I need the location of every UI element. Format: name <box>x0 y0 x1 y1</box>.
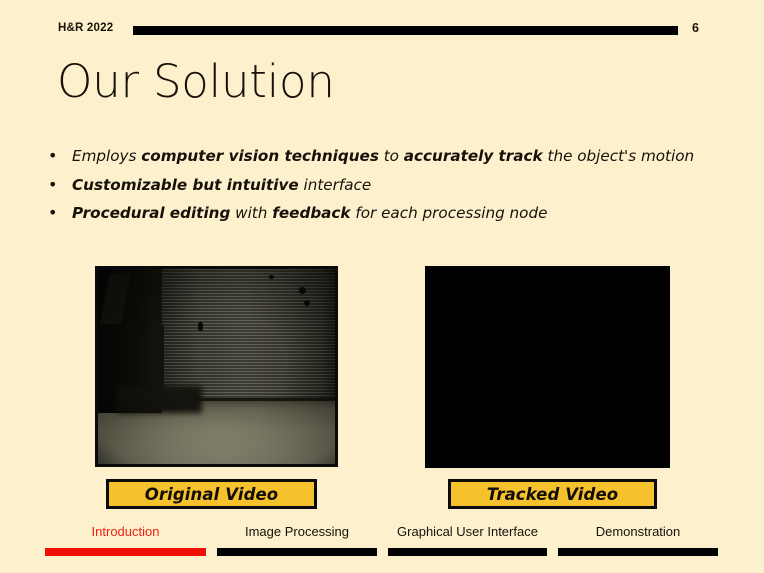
nav-item-underline <box>45 548 206 556</box>
page-title: Our Solution <box>57 58 335 107</box>
bullet-text: Customizable but intuitive interface <box>72 173 734 197</box>
bullet-item: •Employs computer vision techniques to a… <box>44 144 734 168</box>
vignette-overlay <box>98 269 335 464</box>
bullet-text: Procedural editing with feedback for eac… <box>72 201 734 225</box>
header-conference-label: H&R 2022 <box>58 22 113 34</box>
nav-item-underline <box>558 548 718 556</box>
bullet-marker-icon: • <box>44 201 72 225</box>
tracked-video-caption: Tracked Video <box>448 479 657 509</box>
nav-item-label: Graphical User Interface <box>388 524 547 539</box>
footer-navigation: IntroductionImage ProcessingGraphical Us… <box>0 524 764 564</box>
bullet-marker-icon: • <box>44 144 72 168</box>
page-number: 6 <box>692 21 714 35</box>
bullet-marker-icon: • <box>44 173 72 197</box>
nav-item-label: Image Processing <box>217 524 377 539</box>
black-frame-image <box>428 269 667 465</box>
garage-scene-image <box>98 269 335 464</box>
nav-item-label: Demonstration <box>558 524 718 539</box>
bullet-item: •Procedural editing with feedback for ea… <box>44 201 734 225</box>
header-rule-divider <box>133 26 678 35</box>
original-video-caption: Original Video <box>106 479 317 509</box>
slide-header: H&R 2022 6 <box>0 0 764 48</box>
nav-item-underline <box>388 548 547 556</box>
bullet-text: Employs computer vision techniques to ac… <box>72 144 734 168</box>
bullet-list: •Employs computer vision techniques to a… <box>44 144 734 230</box>
original-video-frame[interactable] <box>95 266 338 467</box>
bullet-item: •Customizable but intuitive interface <box>44 173 734 197</box>
slide-canvas: H&R 2022 6 Our Solution •Employs compute… <box>0 0 764 573</box>
nav-item-underline <box>217 548 377 556</box>
nav-item-label: Introduction <box>45 524 206 539</box>
tracked-video-frame[interactable] <box>425 266 670 468</box>
